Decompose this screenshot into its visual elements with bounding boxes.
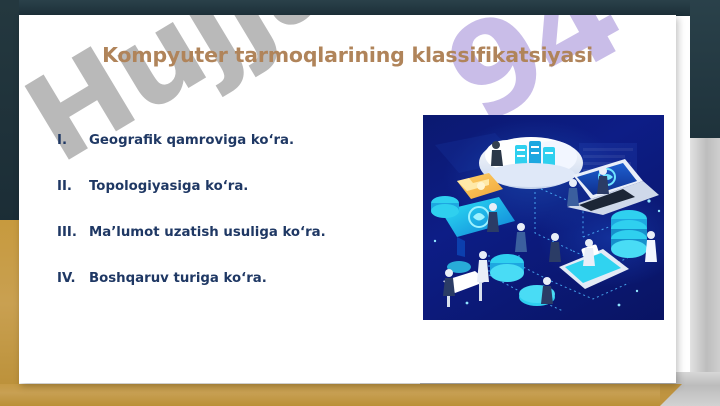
frame-band-right-gray <box>690 138 720 406</box>
cloud-computing-illustration: c <box>423 115 664 320</box>
list-item: I. Geografik qamroviga ko‘ra. <box>57 133 387 179</box>
presentation-slide: Hujjat 94 Kompyuter tarmoqlarining klass… <box>19 15 676 383</box>
list-item-number: II. <box>57 179 89 194</box>
classification-list: I. Geografik qamroviga ko‘ra. II. Topolo… <box>57 133 387 317</box>
frame-band-left-gold <box>0 220 19 406</box>
list-item-label: Ma’lumot uzatish usuliga ko‘ra. <box>89 225 326 240</box>
list-item: II. Topologiyasiga ko‘ra. <box>57 179 387 225</box>
list-item-number: I. <box>57 133 89 148</box>
frame-band-top-dark <box>0 0 720 16</box>
illustration-svg: c <box>423 115 664 320</box>
list-item: III. Ma’lumot uzatish usuliga ko‘ra. <box>57 225 387 271</box>
database-cylinder-right <box>611 210 647 258</box>
frame-band-bottom-gold <box>0 384 660 406</box>
list-item: IV. Boshqaruv turiga ko‘ra. <box>57 271 387 317</box>
database-stack-left <box>431 196 459 218</box>
list-item-number: III. <box>57 225 89 240</box>
page-title: Kompyuter tarmoqlarining klassifikatsiya… <box>19 43 676 67</box>
frame-band-right-dark <box>690 0 720 140</box>
database-small-middle <box>490 254 524 282</box>
list-item-number: IV. <box>57 271 89 286</box>
frame-band-left-dark <box>0 0 19 224</box>
slide-screenshot: Hujjat 94 Kompyuter tarmoqlarining klass… <box>0 0 720 406</box>
list-item-label: Topologiyasiga ko‘ra. <box>89 179 248 194</box>
list-item-label: Boshqaruv turiga ko‘ra. <box>89 271 267 286</box>
list-item-label: Geografik qamroviga ko‘ra. <box>89 133 294 148</box>
